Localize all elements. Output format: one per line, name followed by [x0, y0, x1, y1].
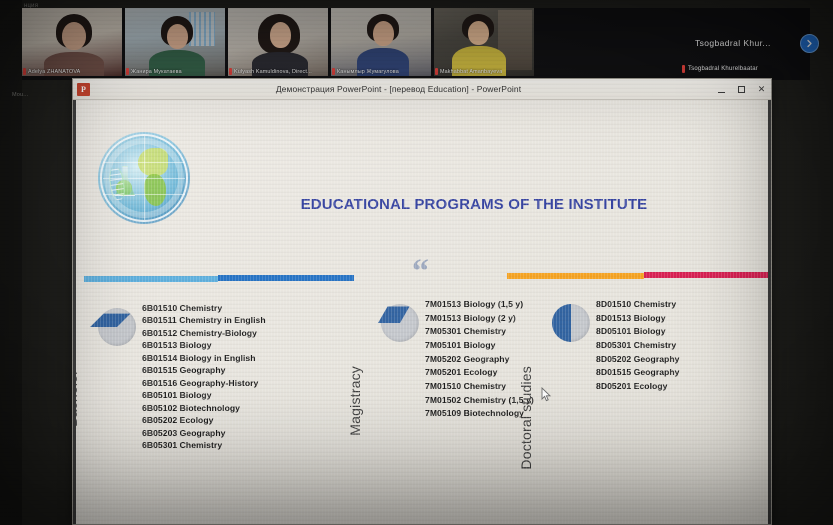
program-item: 6B01514 Biology in English: [142, 354, 266, 363]
pie-marker-icon: [552, 304, 590, 342]
program-item: 7M01513 Biology (2 y): [425, 314, 534, 323]
pie-wedge: [90, 314, 130, 327]
mic-muted-icon: [332, 68, 335, 75]
program-item: 6B01511 Chemistry in English: [142, 316, 266, 325]
participant-tile[interactable]: Жанира Мукатаева: [125, 8, 225, 76]
participant-name: Adelya ZHANATOVA: [28, 69, 80, 75]
powerpoint-window: P Демонстрация PowerPoint - [перевод Edu…: [72, 78, 772, 525]
slide-area: EDUCATIONAL PROGRAMS OF THE INSTITUTE “ …: [73, 100, 771, 525]
participant-nameplate: Kulyash Kamuldinova, Direct...: [229, 68, 312, 75]
program-column-doctoral: Doctoral studies 8D01510 Chemistry 8D015…: [552, 304, 680, 470]
pie-wedge: [378, 307, 409, 323]
participant-nameplate: Adelya ZHANATOVA: [23, 68, 80, 75]
active-speaker-zone: Tsogbadral Khur... Tsogbadral Khurelbaat…: [552, 8, 810, 76]
program-column-magistracy: Magistracy 7M01513 Biology (1,5 y) 7M015…: [381, 304, 534, 436]
program-item: 6B05202 Ecology: [142, 416, 266, 425]
program-item: 6B05102 Biotechnology: [142, 404, 266, 413]
divider-bar-blue: [218, 275, 354, 281]
maximize-icon: [738, 86, 745, 93]
next-page-button[interactable]: [800, 34, 819, 53]
participant-video: [228, 8, 328, 76]
level-label: Magistracy: [347, 366, 419, 436]
active-speaker-full-name: Tsogbadral Khurelbaatar: [688, 66, 758, 72]
mouse-pointer-icon: [541, 387, 552, 407]
column-marker-group: Magistracy: [381, 304, 419, 436]
program-item: 6B05101 Biology: [142, 391, 266, 400]
participant-video: [434, 8, 534, 76]
participant-tile[interactable]: Kulyash Kamuldinova, Direct...: [228, 8, 328, 76]
program-item: 6B01516 Geography-History: [142, 379, 266, 388]
participant-tile[interactable]: Канымлыр Жумагулова: [331, 8, 431, 76]
pie-wedge: [552, 304, 571, 342]
desktop-left-edge: [0, 0, 22, 525]
powerpoint-icon: P: [77, 83, 90, 96]
program-item: 7M05101 Biology: [425, 341, 534, 350]
program-item: 7M05301 Chemistry: [425, 327, 534, 336]
mic-muted-icon: [126, 68, 129, 75]
minimize-button[interactable]: [716, 84, 727, 95]
program-item: 8D01510 Chemistry: [596, 300, 680, 309]
close-button[interactable]: ✕: [756, 84, 767, 95]
slide-title: EDUCATIONAL PROGRAMS OF THE INSTITUTE: [194, 196, 754, 213]
institute-globe-logo: [98, 132, 190, 224]
program-item: 6B05301 Chemistry: [142, 441, 266, 450]
participant-video: [331, 8, 431, 76]
participant-tile[interactable]: Adelya ZHANATOVA: [22, 8, 122, 76]
program-item: 8D01513 Biology: [596, 314, 680, 323]
participant-video: [125, 8, 225, 76]
divider-bar-light-blue: [84, 276, 218, 282]
pie-marker-icon: [98, 308, 136, 346]
program-column-bachelor: Bachelor 6B01510 Chemistry 6B01511 Chemi…: [98, 308, 266, 454]
mic-muted-icon: [23, 68, 26, 75]
program-item: 8D05101 Biology: [596, 327, 680, 336]
active-speaker-nameplate: Tsogbadral Khurelbaatar: [682, 65, 758, 73]
column-marker-group: Bachelor: [98, 308, 136, 427]
logo-rim: [98, 132, 190, 224]
program-item: 6B01515 Geography: [142, 366, 266, 375]
program-item: 8D05201 Ecology: [596, 382, 680, 391]
pie-marker-icon: [381, 304, 419, 342]
program-item: 8D01515 Geography: [596, 368, 680, 377]
desktop-side-label: Mou...: [12, 92, 28, 98]
minimize-icon: [718, 92, 725, 93]
window-controls: ✕: [716, 79, 767, 100]
mic-muted-icon: [229, 68, 232, 75]
program-item: 6B01512 Chemistry-Biology: [142, 329, 266, 338]
program-item: 7M05202 Geography: [425, 355, 534, 364]
powerpoint-window-title: Демонстрация PowerPoint - [перевод Educa…: [90, 84, 771, 94]
powerpoint-titlebar[interactable]: P Демонстрация PowerPoint - [перевод Edu…: [73, 79, 771, 100]
participant-name: Kulyash Kamuldinova, Direct...: [234, 69, 312, 75]
participant-video: [22, 8, 122, 76]
divider-bar-crimson: [644, 272, 768, 278]
program-item: 8D05202 Geography: [596, 355, 680, 364]
level-label: Doctoral studies: [518, 366, 590, 470]
participant-nameplate: Makhabbat Amanbayeva: [435, 68, 502, 75]
program-item: 6B05203 Geography: [142, 429, 266, 438]
quote-mark-icon: “: [412, 255, 428, 289]
program-item: 7M01513 Biology (1,5 y): [425, 300, 534, 309]
program-item: 6B01510 Chemistry: [142, 304, 266, 313]
program-item: 6B01513 Biology: [142, 341, 266, 350]
program-list: 6B01510 Chemistry 6B01511 Chemistry in E…: [142, 304, 266, 454]
chevron-right-icon: [805, 39, 814, 48]
level-label: Bachelor: [76, 370, 136, 427]
column-marker-group: Doctoral studies: [552, 304, 590, 470]
participant-nameplate: Канымлыр Жумагулова: [332, 68, 399, 75]
photographed-screen: нция Mou... Adelya ZHANATOVA: [0, 0, 833, 525]
maximize-button[interactable]: [736, 84, 747, 95]
program-list: 8D01510 Chemistry 8D01513 Biology 8D0510…: [596, 300, 680, 396]
divider-bar-orange: [507, 273, 644, 279]
participant-tile[interactable]: Makhabbat Amanbayeva: [434, 8, 534, 76]
video-conference-strip: Adelya ZHANATOVA Жанира Мукатаева: [22, 8, 810, 80]
participant-name: Makhabbat Amanbayeva: [440, 69, 502, 75]
participant-name: Канымлыр Жумагулова: [337, 69, 399, 75]
mic-muted-icon: [435, 68, 438, 75]
program-item: 8D05301 Chemistry: [596, 341, 680, 350]
participant-name: Жанира Мукатаева: [131, 69, 182, 75]
active-speaker-name: Tsogbadral Khur...: [695, 38, 771, 48]
mic-muted-icon: [682, 65, 685, 73]
participant-nameplate: Жанира Мукатаева: [126, 68, 182, 75]
presentation-slide: EDUCATIONAL PROGRAMS OF THE INSTITUTE “ …: [76, 100, 768, 525]
